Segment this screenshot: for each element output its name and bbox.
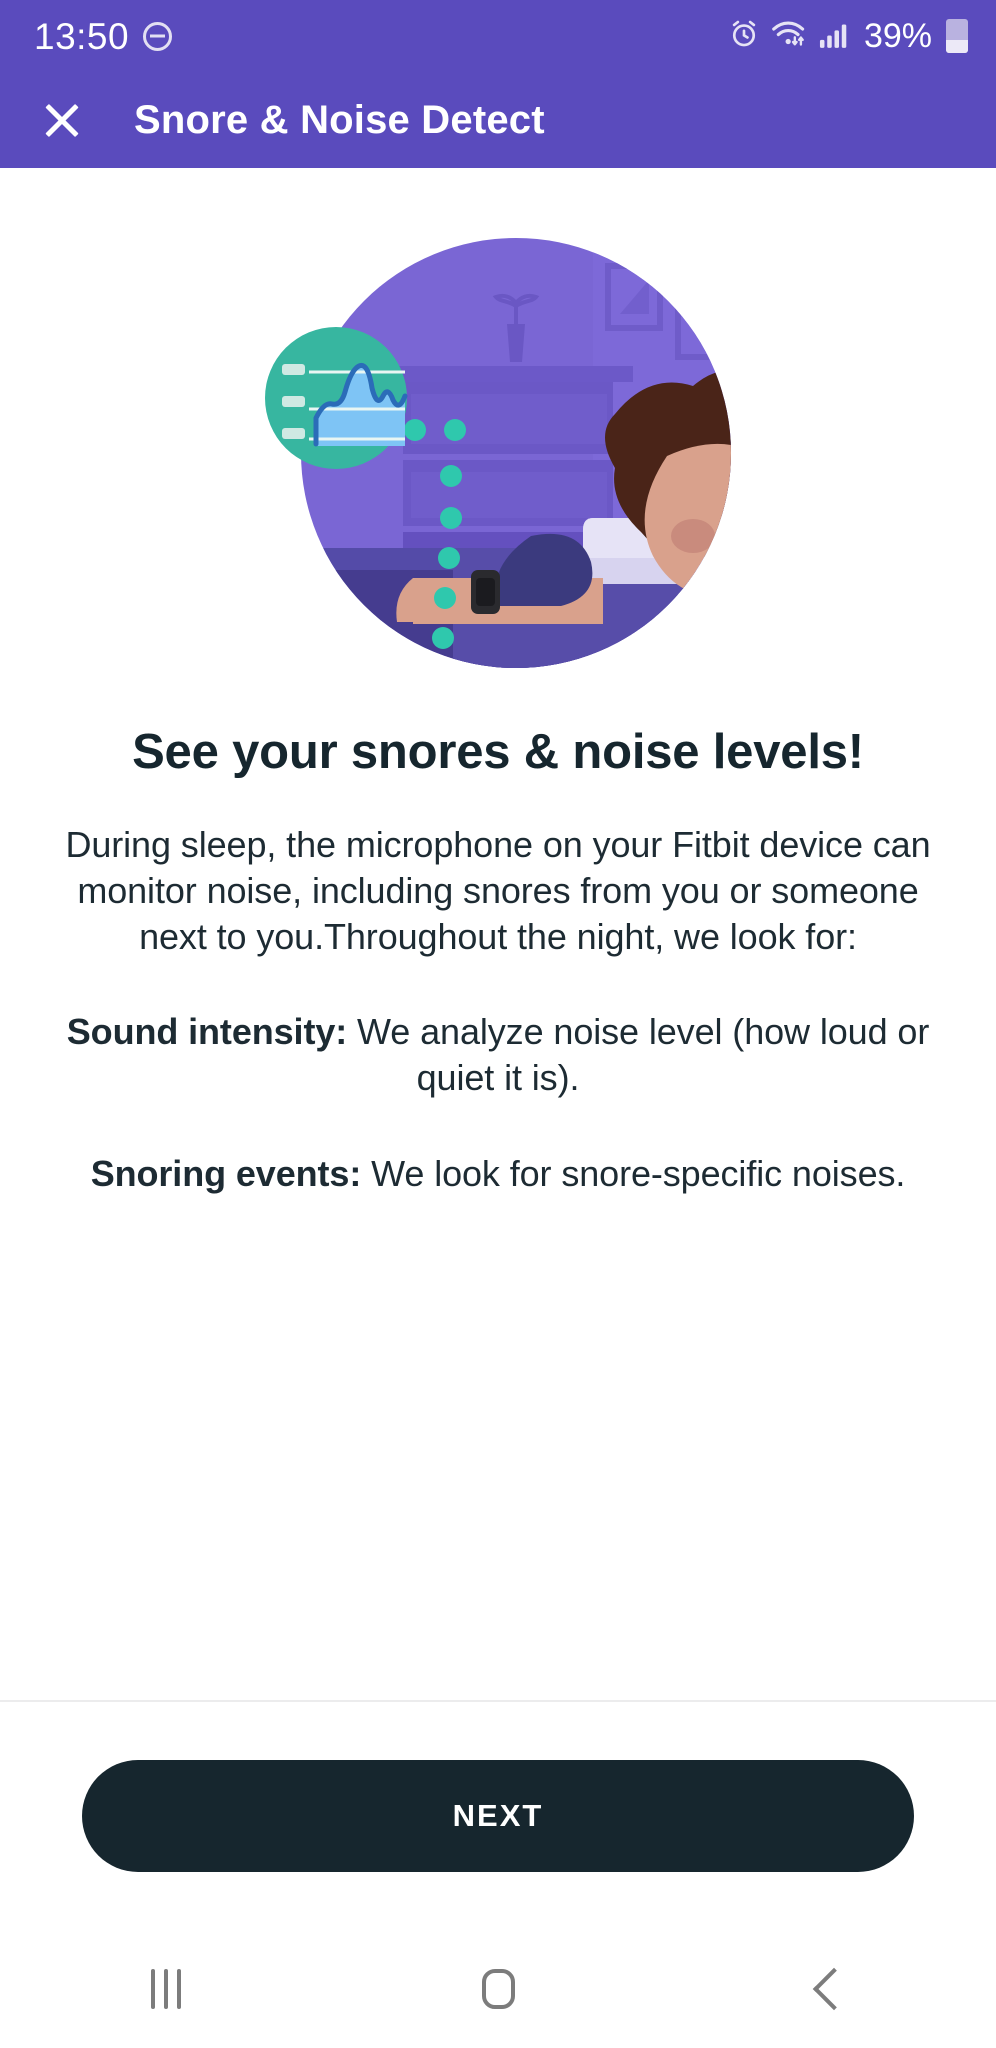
snoring-events-paragraph: Snoring events: We look for snore-specif… [52, 1151, 944, 1197]
sleeping-person-illustration [263, 218, 733, 688]
status-clock: 13:50 [34, 18, 129, 55]
home-button[interactable] [423, 1930, 573, 2048]
snoring-events-label: Snoring events: [91, 1153, 362, 1194]
status-bar-right: 39% [728, 18, 968, 55]
hero-illustration-wrap [0, 168, 996, 688]
back-icon [813, 1968, 855, 2010]
next-button[interactable]: NEXT [82, 1760, 914, 1872]
sound-intensity-paragraph: Sound intensity: We analyze noise level … [52, 1009, 944, 1100]
headline: See your snores & noise levels! [60, 722, 936, 782]
status-bar: 13:50 [0, 0, 996, 72]
sound-intensity-label: Sound intensity: [67, 1011, 347, 1052]
alarm-clock-icon [728, 18, 760, 55]
app-bar: Snore & Noise Detect [0, 72, 996, 168]
sound-intensity-text: We analyze noise level (how loud or quie… [347, 1011, 929, 1098]
page-title: Snore & Noise Detect [134, 98, 545, 143]
close-icon[interactable] [36, 94, 88, 146]
recents-icon [151, 1969, 181, 2009]
do-not-disturb-icon [143, 22, 172, 51]
battery-icon [946, 19, 968, 53]
main-content: See your snores & noise levels! During s… [0, 168, 996, 1700]
cellular-signal-icon [818, 18, 851, 55]
intro-paragraph: During sleep, the microphone on your Fit… [52, 822, 944, 959]
battery-percent-label: 39% [864, 19, 932, 53]
footer-bar: NEXT [0, 1700, 996, 1930]
wifi-icon [771, 18, 807, 55]
home-icon [482, 1969, 515, 2009]
status-bar-left: 13:50 [34, 18, 172, 55]
back-button[interactable] [755, 1930, 905, 2048]
snoring-events-text: We look for snore-specific noises. [361, 1153, 905, 1194]
recents-button[interactable] [91, 1930, 241, 2048]
intro-paragraph-text: During sleep, the microphone on your Fit… [65, 824, 930, 956]
android-nav-bar [0, 1930, 996, 2048]
